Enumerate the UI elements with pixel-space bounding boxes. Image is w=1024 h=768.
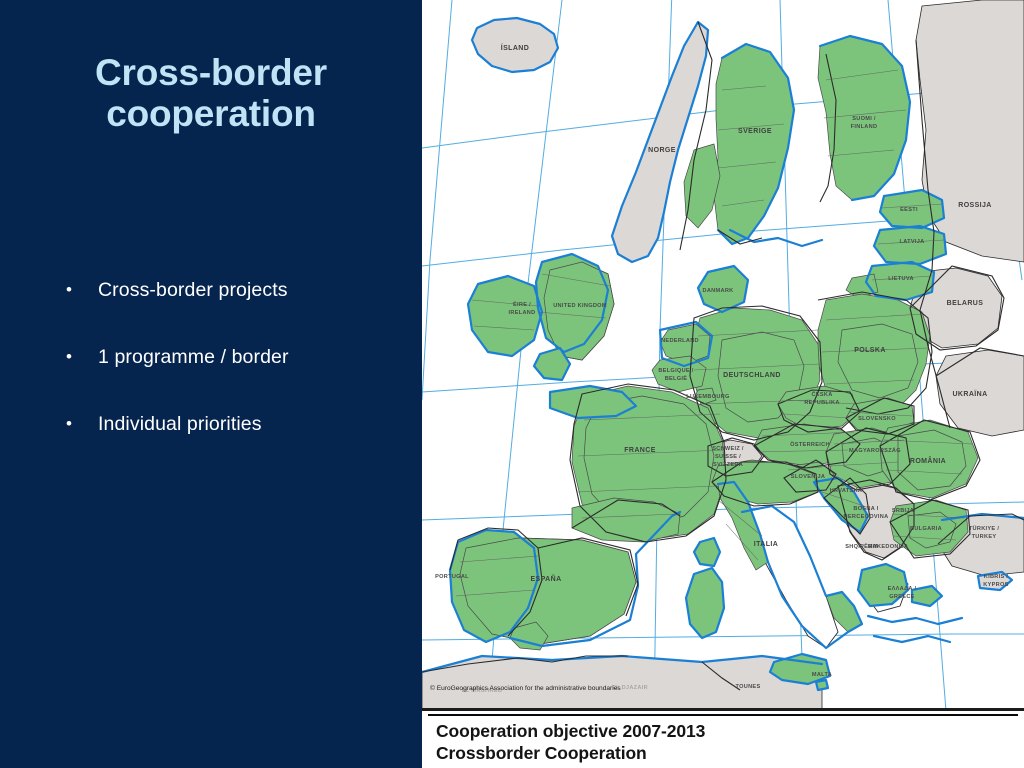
label-switzerland-2: SUISSE / [715,454,741,460]
label-ukraine: UKRAÏNA [952,390,987,398]
map-copyright: © EuroGeographics Association for the ad… [428,681,708,693]
page-title-line-2: cooperation [0,93,422,134]
label-turkey: TÜRKIYE / [969,525,1000,532]
label-albania: SHQIPËRIA [845,543,878,550]
label-cyprus-2: KYPROS [983,582,1008,588]
label-czechia: ČESKÁ [811,391,832,398]
label-portugal: PORTUGAL [435,574,469,580]
label-netherlands: NEDERLAND [661,338,699,344]
bullet-icon: • [62,278,98,302]
bullet-list: • Cross-border projects • 1 programme / … [62,278,412,479]
label-switzerland: SCHWEIZ / [712,446,744,452]
europe-cooperation-map: ÍSLAND NORGE SVERIGE SUOMI / FINLAND EES… [422,0,1024,711]
label-greece: ΕΛΛΑΔΑ / [888,586,917,592]
label-malta: MALTA [812,672,832,678]
label-united-kingdom: UNITED KINGDOM [553,303,607,309]
label-belarus: BELARUS [947,300,984,307]
bullet-icon: • [62,412,98,436]
label-finland-2: FINLAND [851,124,878,130]
page-title-line-1: Cross-border [0,52,422,93]
label-spain: ESPAÑA [530,574,561,583]
label-bulgaria: BULGARIA [910,526,942,532]
label-france: FRANCE [624,447,656,454]
label-hungary: MAGYARORSZÁG [849,447,901,454]
label-slovenia: SLOVENIJA [791,474,825,480]
label-bosnia-2: HERCEGOVINA [844,514,889,520]
list-item: • Individual priorities [62,412,412,436]
label-italy: ITALIA [754,541,778,548]
map-caption: Cooperation objective 2007-2013 Crossbor… [422,714,1024,768]
page-title: Cross-border cooperation [0,52,422,135]
list-item-label: Individual priorities [98,412,262,436]
label-iceland: ÍSLAND [501,43,529,52]
label-slovakia: SLOVENSKO [858,416,896,422]
label-belgium-2: BELGIË [665,375,688,382]
label-finland: SUOMI / [852,116,876,122]
label-tunisia: TOUNES [735,684,760,690]
label-lithuania: LIETUVA [888,276,914,282]
list-item-label: Cross-border projects [98,278,288,302]
label-cyprus: KIBRIS / [984,574,1009,580]
list-item: • Cross-border projects [62,278,412,302]
label-norway: NORGE [648,147,676,154]
label-germany: DEUTSCHLAND [723,372,781,379]
label-austria: ÖSTERREICH [790,441,830,448]
caption-line-2: Crossborder Cooperation [436,742,1024,764]
label-croatia: HRVATSKA [830,488,863,494]
label-denmark: DANMARK [703,288,734,294]
label-switzerland-3: SVIZZERA [713,462,743,468]
copyright-text: © EuroGeographics Association for the ad… [430,684,621,692]
caption-divider [428,714,1018,716]
label-luxembourg: LUXEMBOURG [686,394,729,400]
label-greece-2: GREECE [889,594,914,600]
label-russia: ROSSIJA [958,202,992,209]
label-bosnia: BOSNA I [853,506,878,512]
list-item: • 1 programme / border [62,345,412,369]
slide-left-panel: Cross-border cooperation • Cross-border … [0,0,422,768]
map-figure: ÍSLAND NORGE SVERIGE SUOMI / FINLAND EES… [422,0,1024,768]
label-poland: POLSKA [854,347,886,354]
label-romania: ROMÂNIA [910,456,946,465]
caption-line-1: Cooperation objective 2007-2013 [436,720,1024,742]
label-ireland-2: IRELAND [509,310,536,316]
label-belgium: BELGIQUE / [658,368,693,374]
label-latvia: LATVIJA [900,239,925,245]
label-czechia-2: REPUBLIKA [804,400,839,406]
label-turkey-2: TURKEY [972,534,997,540]
bullet-icon: • [62,345,98,369]
label-serbia: SRBIJA [892,508,914,514]
label-sweden: SVERIGE [738,128,772,135]
label-estonia: EESTI [900,207,918,213]
label-ireland: ÉIRE / [513,300,531,308]
list-item-label: 1 programme / border [98,345,289,369]
